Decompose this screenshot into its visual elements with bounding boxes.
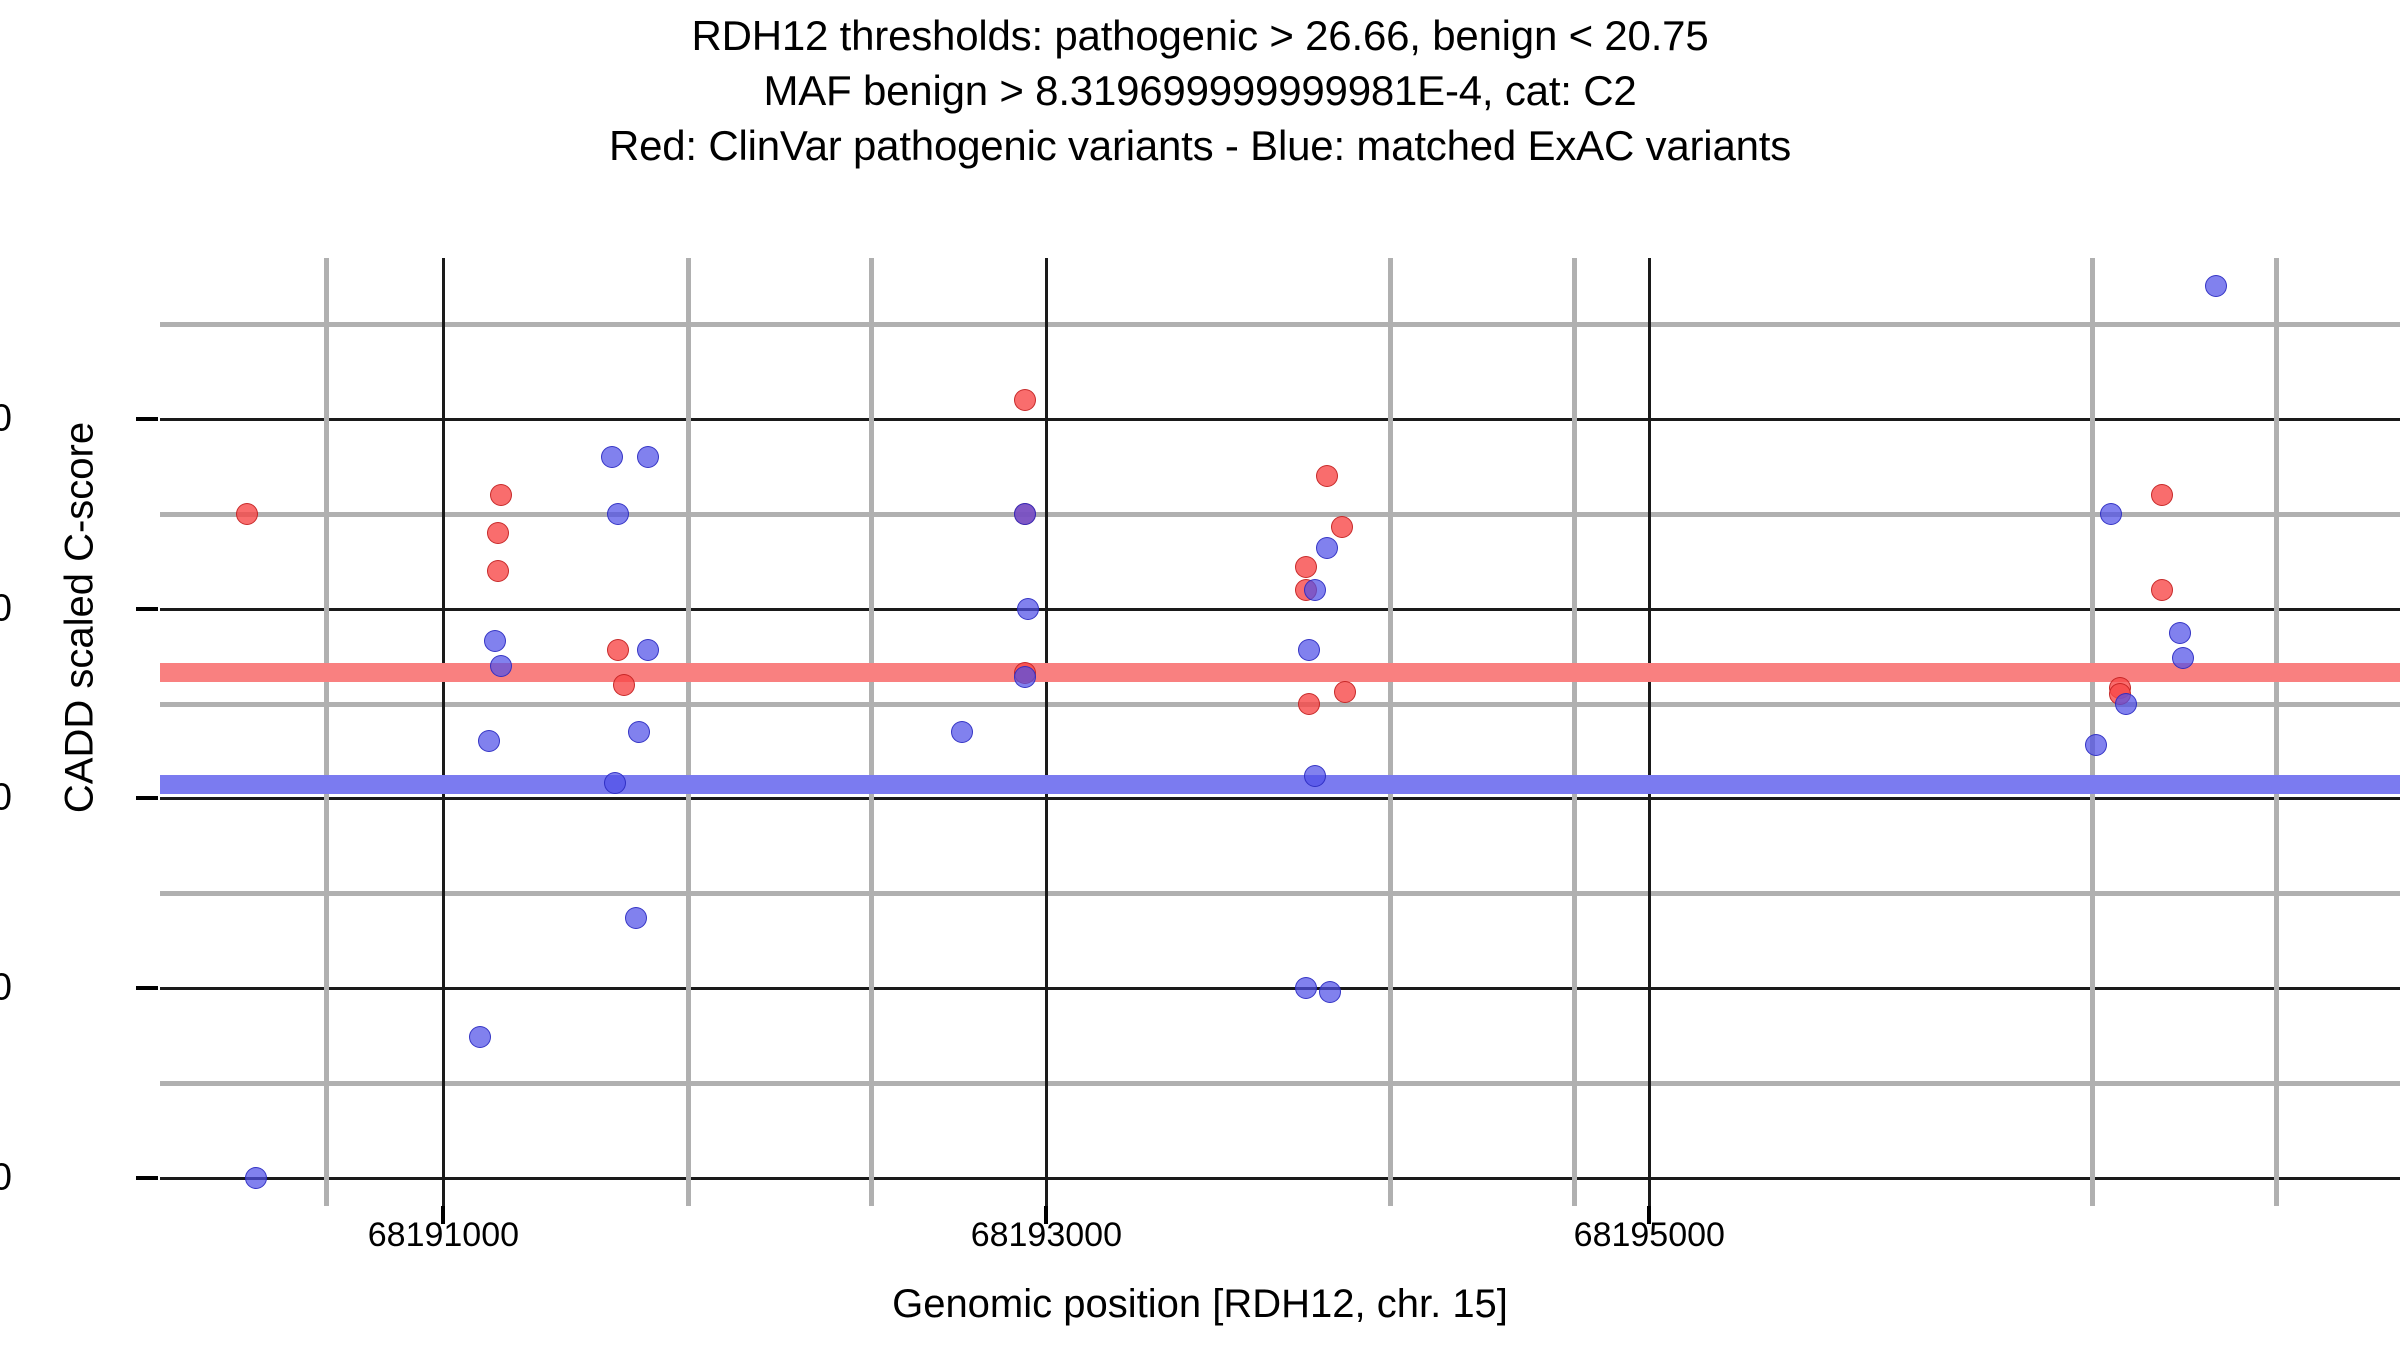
gridline-major-y [160,797,2400,800]
data-point-pathogenic [2151,579,2173,601]
data-point-exac [637,639,659,661]
data-point-exac [478,730,500,752]
x-axis-label: Genomic position [RDH12, chr. 15] [0,1282,2400,1327]
data-point-pathogenic [236,503,258,525]
data-point-pathogenic [1295,556,1317,578]
data-point-pathogenic [1014,389,1036,411]
gridline-major-y [160,418,2400,421]
title-line-2: MAF benign > 8.319699999999981E-4, cat: … [0,63,2400,118]
data-point-exac [637,446,659,468]
data-point-exac [2172,647,2194,669]
gridline-minor-x [869,258,874,1206]
y-axis-tick-label: 20 [0,777,12,820]
data-point-pathogenic [487,560,509,582]
gridline-minor-y [160,891,2400,896]
x-axis-tick-mark [1044,1206,1048,1224]
gridline-major-y [160,608,2400,611]
data-point-exac [1017,598,1039,620]
y-axis-tick-label: 30 [0,587,12,630]
data-point-exac [1298,639,1320,661]
data-point-exac [625,907,647,929]
x-axis-tick-mark [441,1206,445,1224]
gridline-minor-x [2090,258,2095,1206]
data-point-pathogenic [487,522,509,544]
data-point-pathogenic [2151,484,2173,506]
data-point-pathogenic [1316,465,1338,487]
plot-area [160,258,2400,1206]
gridline-major-y [160,987,2400,990]
gridline-minor-y [160,322,2400,327]
data-point-exac [951,721,973,743]
data-point-exac [607,503,629,525]
data-point-exac [628,721,650,743]
data-point-pathogenic [1331,516,1353,538]
data-point-pathogenic [1298,693,1320,715]
gridline-minor-y [160,1081,2400,1086]
y-axis-label: CADD scaled C-score [58,308,103,928]
gridline-minor-x [686,258,691,1206]
gridline-minor-y [160,512,2400,517]
gridline-minor-x [2274,258,2279,1206]
title-line-1: RDH12 thresholds: pathogenic > 26.66, be… [0,8,2400,63]
gridline-minor-x [1388,258,1393,1206]
gridline-minor-y [160,702,2400,707]
data-point-exac [1014,666,1036,688]
y-axis-tick-label: 0 [0,1156,12,1199]
gridline-minor-x [324,258,329,1206]
data-point-exac [2085,734,2107,756]
data-point-exac [1304,579,1326,601]
gridline-major-x [1045,258,1048,1206]
data-point-exac [2205,275,2227,297]
data-point-exac [245,1167,267,1189]
data-point-exac [2169,622,2191,644]
threshold-band-benign [160,775,2400,794]
data-point-exac [1304,765,1326,787]
title-line-3: Red: ClinVar pathogenic variants - Blue:… [0,118,2400,173]
gridline-major-x [1648,258,1651,1206]
gridline-minor-x [1572,258,1577,1206]
y-axis-tick-label: 40 [0,398,12,441]
data-point-exac [1295,977,1317,999]
data-point-pathogenic [1334,681,1356,703]
y-axis-tick-mark [136,986,158,990]
gridline-major-x [442,258,445,1206]
y-axis-tick-label: 10 [0,966,12,1009]
y-axis-tick-mark [136,1176,158,1180]
gridline-major-y [160,1177,2400,1180]
data-point-pathogenic [490,484,512,506]
data-point-exac [484,630,506,652]
data-point-exac [1316,537,1338,559]
data-point-pathogenic [613,674,635,696]
data-point-pathogenic [607,639,629,661]
data-point-exac [1014,503,1036,525]
y-axis-tick-mark [136,796,158,800]
data-point-exac [2115,693,2137,715]
data-point-exac [1319,981,1341,1003]
data-point-exac [469,1026,491,1048]
data-point-exac [490,655,512,677]
chart-title: RDH12 thresholds: pathogenic > 26.66, be… [0,8,2400,173]
chart-root: RDH12 thresholds: pathogenic > 26.66, be… [0,0,2400,1350]
y-axis-tick-mark [136,607,158,611]
data-point-exac [601,446,623,468]
data-point-exac [2100,503,2122,525]
x-axis-tick-mark [1647,1206,1651,1224]
y-axis-tick-mark [136,417,158,421]
